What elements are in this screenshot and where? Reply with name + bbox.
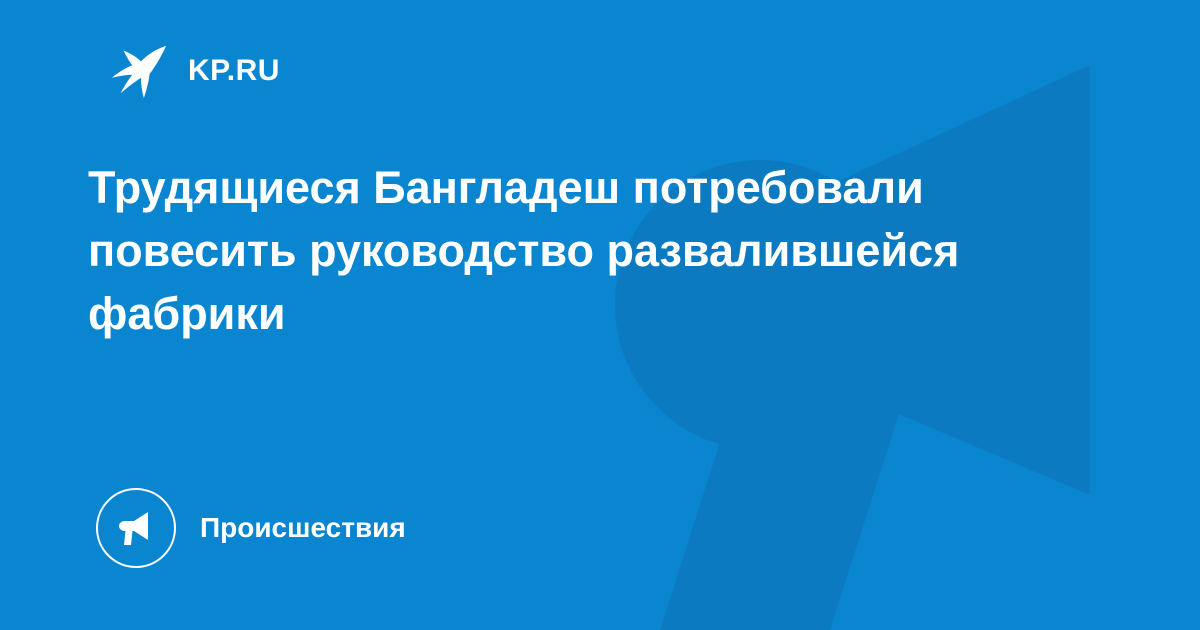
- category-label: Происшествия: [200, 514, 406, 542]
- brand-name: KP.RU: [188, 56, 280, 86]
- article-share-card: KP.RU Трудящиеся Бангладеш потребовали п…: [0, 0, 1200, 630]
- megaphone-icon: [96, 488, 176, 568]
- swallow-bird-logo-icon: [108, 40, 170, 102]
- category-badge[interactable]: Происшествия: [96, 486, 406, 570]
- site-header: KP.RU: [108, 38, 280, 104]
- page-title: Трудящиеся Бангладеш потребовали повесит…: [88, 156, 968, 345]
